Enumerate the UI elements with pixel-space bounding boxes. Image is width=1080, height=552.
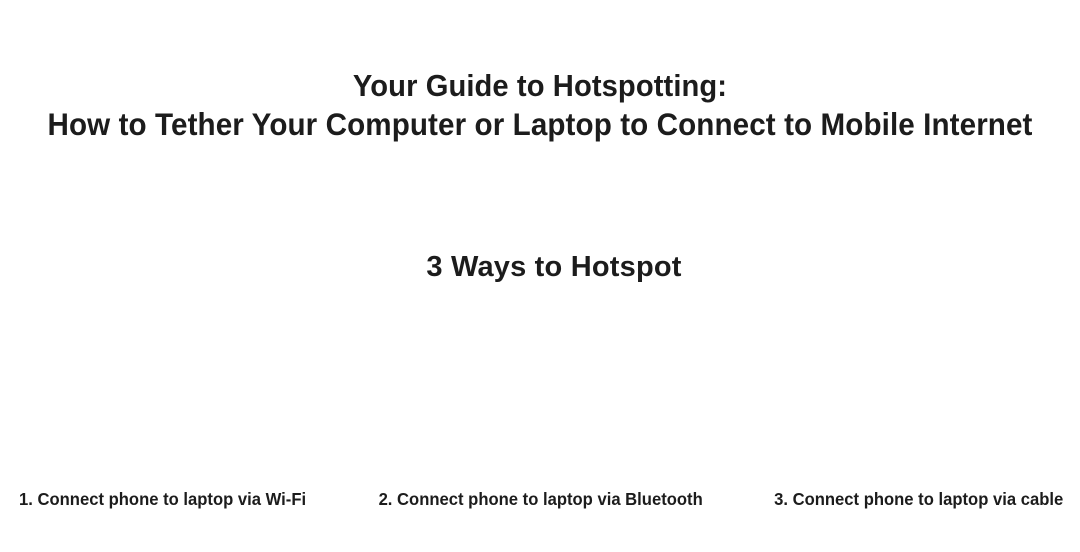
page-title-line-1: Your Guide to Hotspotting: bbox=[32, 67, 1047, 105]
figure-slot-2 bbox=[360, 285, 720, 481]
figure-caption-wifi: 1. Connect phone to laptop via Wi-Fi bbox=[0, 488, 349, 510]
article-page: Your Guide to Hotspotting: How to Tether… bbox=[0, 0, 1080, 552]
figure-caption-bluetooth: 2. Connect phone to laptop via Bluetooth bbox=[376, 488, 706, 510]
figure-slot-3 bbox=[720, 285, 1080, 481]
figure-caption-cable: 3. Connect phone to laptop via cable bbox=[733, 488, 1080, 510]
figure-slot-1 bbox=[0, 285, 360, 481]
section-heading: 3 Ways to Hotspot bbox=[0, 248, 1080, 286]
page-title: Your Guide to Hotspotting: How to Tether… bbox=[32, 67, 1047, 143]
page-title-line-2: How to Tether Your Computer or Laptop to… bbox=[32, 105, 1047, 143]
figure-row bbox=[0, 285, 1080, 481]
figure-caption-row: 1. Connect phone to laptop via Wi-Fi 2. … bbox=[0, 488, 1080, 514]
